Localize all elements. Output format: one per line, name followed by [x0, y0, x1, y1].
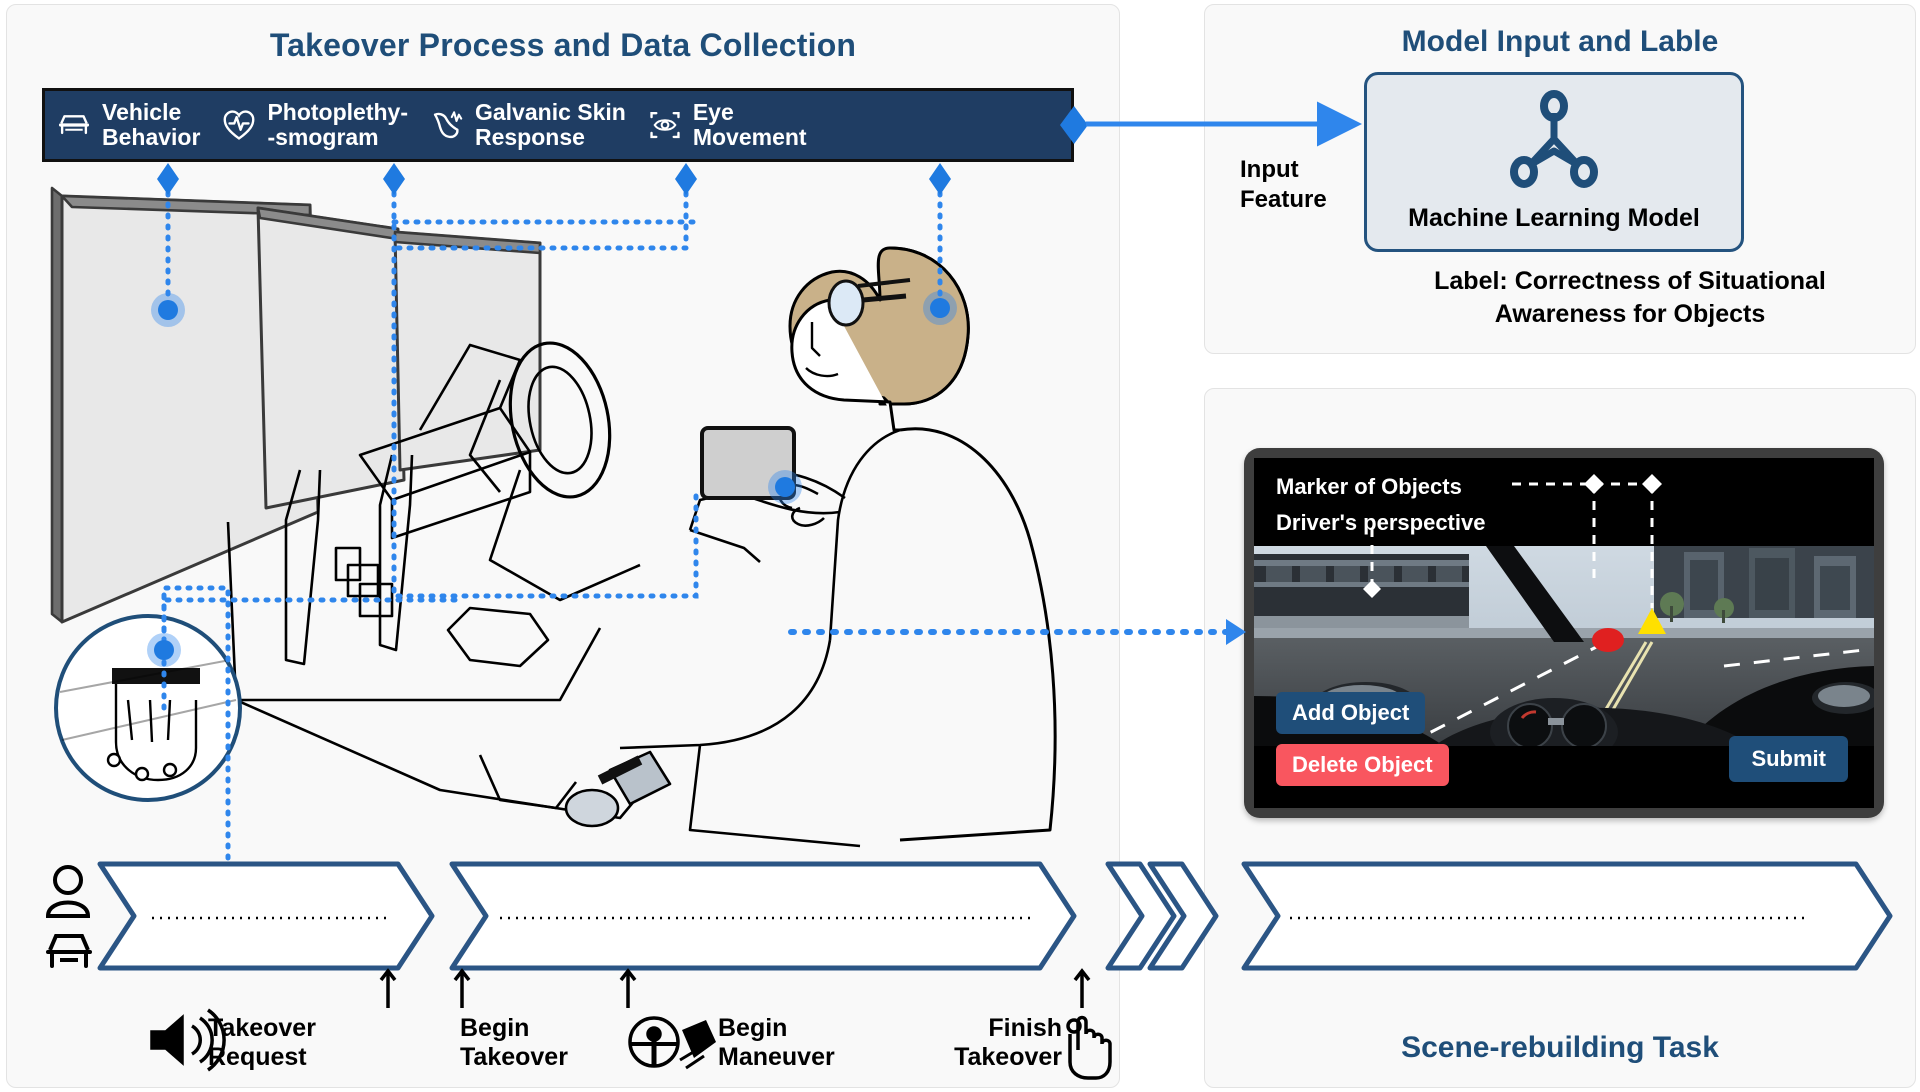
sensor-item-galvanic-skin-response[interactable]: Galvanic Skin Response	[418, 100, 636, 150]
white-diamond-marker	[1363, 580, 1381, 598]
scene-rebuilding-tablet[interactable]: Marker of Objects Driver's perspective A…	[1244, 448, 1884, 818]
stage-0-bottom-label: Automated Driving	[90, 937, 420, 967]
sensor-item-label: Photoplethy- -smogram	[267, 100, 408, 150]
stage-1-bottom-label: Hand over control to the driver	[450, 937, 940, 967]
model-box-label: Machine Learning Model	[1367, 204, 1741, 233]
sensor-item-eye-movement[interactable]: Eye Movement	[636, 100, 817, 150]
eye-tracking-icon	[646, 106, 684, 144]
delete-object-button[interactable]: Delete Object	[1276, 744, 1449, 786]
submit-button[interactable]: Submit	[1729, 736, 1848, 782]
add-object-button[interactable]: Add Object	[1276, 692, 1425, 734]
sensor-modality-bar: Vehicle Behavior Photoplethy- -smogram G…	[42, 88, 1074, 162]
takeover-process-panel: Takeover Process and Data Collection	[6, 4, 1120, 1088]
event-begin-maneuver-label: Begin Maneuver	[718, 1014, 835, 1072]
event-takeover-request-label: Takeover Request	[208, 1014, 316, 1072]
stage-2-bottom-label: Simulation Pause	[1240, 937, 1840, 967]
white-diamond-marker	[1584, 474, 1604, 494]
stage-2-top-label: Scene-rebuilding Task	[1240, 885, 1840, 915]
input-feature-label: Input Feature	[1240, 155, 1360, 215]
page-title: Takeover Process and Data Collection	[7, 27, 1119, 64]
machine-learning-model-box[interactable]: Machine Learning Model	[1364, 72, 1744, 252]
model-panel-title: Model Input and Lable	[1205, 25, 1915, 59]
event-begin-takeover-label: Begin Takeover	[460, 1014, 568, 1072]
stage-1-top-label: Manual Driving	[470, 885, 920, 915]
heart-pulse-icon	[220, 106, 258, 144]
sensor-item-label: Vehicle Behavior	[102, 100, 200, 150]
event-finish-takeover-label: Finish Takeover	[952, 1014, 1062, 1072]
car-icon	[55, 106, 93, 144]
scene-panel-title: Scene-rebuilding Task	[1205, 1031, 1915, 1065]
sensor-item-label: Eye Movement	[693, 100, 807, 150]
stage-0-top-label: Tetris Task	[100, 885, 410, 915]
neural-network-icon	[1494, 89, 1614, 204]
sensor-item-vehicle-behavior[interactable]: Vehicle Behavior	[45, 100, 210, 150]
model-output-label: Label: Correctness of Situational Awaren…	[1380, 265, 1880, 331]
tablet-screen[interactable]: Marker of Objects Driver's perspective A…	[1254, 458, 1874, 808]
yellow-object-marker	[1638, 608, 1666, 634]
skin-response-icon	[428, 106, 466, 144]
sensor-item-label: Galvanic Skin Response	[475, 100, 626, 150]
sensor-item-photoplethysmogram[interactable]: Photoplethy- -smogram	[210, 100, 418, 150]
white-diamond-marker	[1642, 474, 1662, 494]
